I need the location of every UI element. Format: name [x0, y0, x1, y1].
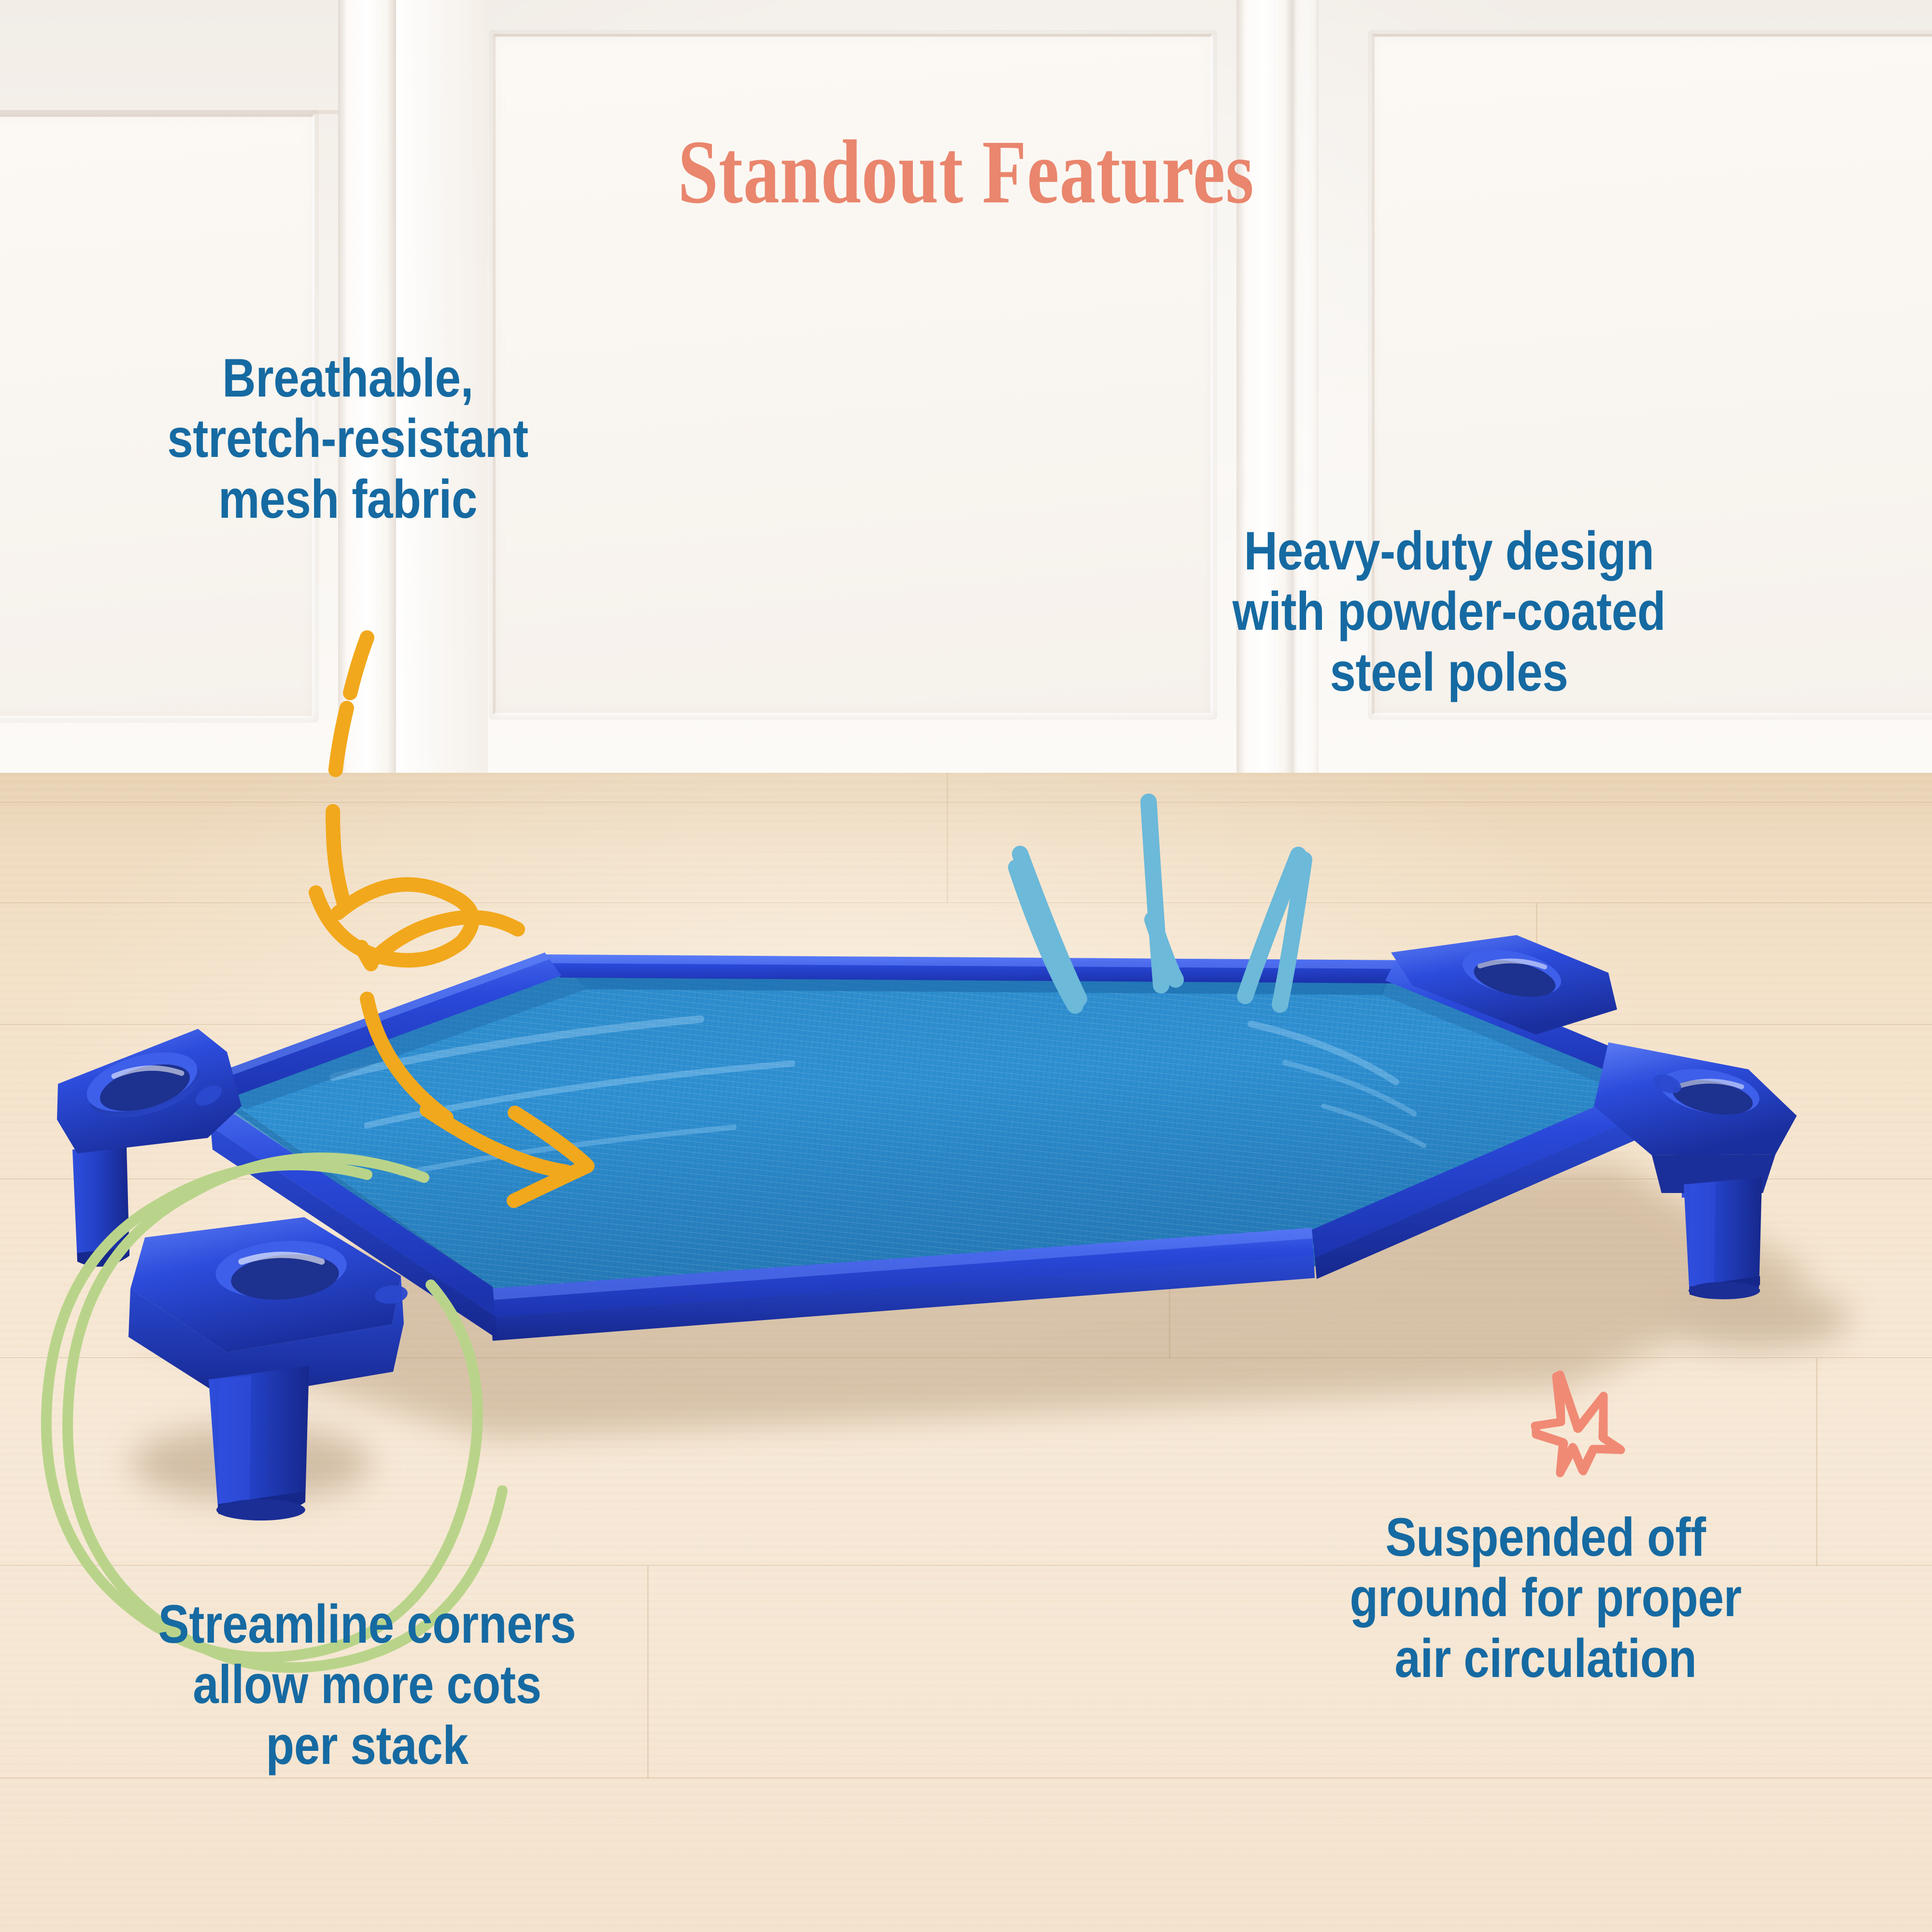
hand-drawn-star-icon	[1535, 1375, 1621, 1473]
page-title: Standout Features	[193, 127, 1739, 217]
three-tick-strokes-icon	[1016, 802, 1304, 1006]
callout-steel-poles: Heavy-duty design with powder-coated ste…	[1125, 521, 1773, 702]
callout-streamline-corners: Streamline corners allow more cots per s…	[68, 1594, 666, 1776]
infographic-canvas: Standout Features Breathable, stretch-re…	[0, 0, 1932, 1932]
hand-drawn-circle-icon	[46, 1158, 502, 1667]
callout-mesh-fabric: Breathable, stretch-resistant mesh fabri…	[73, 348, 622, 529]
curved-dashed-arrow-icon	[316, 638, 587, 1201]
callout-air-circulation: Suspended off ground for proper air circ…	[1247, 1507, 1845, 1689]
